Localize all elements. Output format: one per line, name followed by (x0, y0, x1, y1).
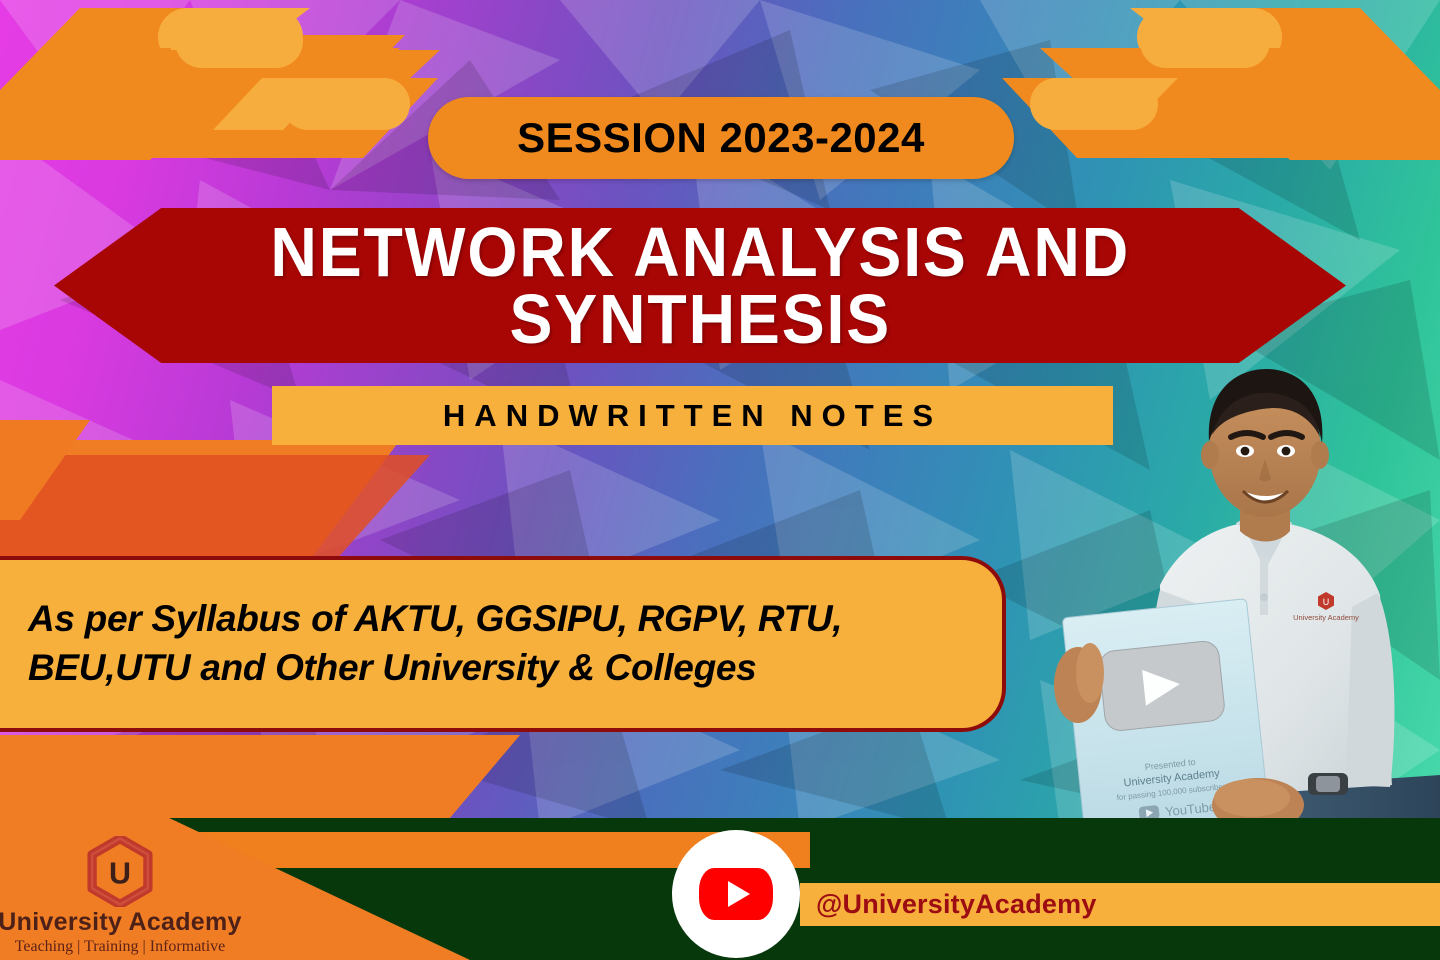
brand-tagline: Teaching | Training | Informative (15, 938, 226, 956)
brand-logo: U University Academy Teaching | Training… (10, 836, 230, 956)
poster-canvas: SESSION 2023-2024 NETWORK ANALYSIS AND S… (0, 0, 1440, 960)
presenter-photo: U University Academy Presented to Univer… (1040, 355, 1440, 860)
channel-handle-label: @UniversityAcademy (816, 889, 1097, 920)
play-triangle-icon (728, 881, 750, 907)
syllabus-line-2: BEU,UTU and Other University & Colleges (28, 644, 1002, 693)
brand-monogram: U (109, 856, 131, 890)
syllabus-callout: As per Syllabus of AKTU, GGSIPU, RGPV, R… (0, 556, 1006, 732)
youtube-play-icon (699, 868, 773, 920)
session-badge-label: SESSION 2023-2024 (517, 114, 925, 162)
title-banner: NETWORK ANALYSIS AND SYNTHESIS (54, 208, 1346, 363)
title-line-2: SYNTHESIS (270, 286, 1130, 353)
channel-handle-strip: @UniversityAcademy (800, 883, 1440, 926)
handwritten-notes-badge: HANDWRITTEN NOTES (272, 386, 1113, 445)
syllabus-line-1: As per Syllabus of AKTU, GGSIPU, RGPV, R… (28, 595, 1002, 644)
handwritten-notes-label: HANDWRITTEN NOTES (443, 398, 942, 434)
session-badge: SESSION 2023-2024 (428, 97, 1014, 179)
brand-name: University Academy (0, 908, 242, 937)
youtube-badge[interactable] (672, 830, 800, 958)
page-title: NETWORK ANALYSIS AND SYNTHESIS (270, 219, 1130, 352)
svg-text:University Academy: University Academy (1293, 613, 1359, 622)
hexagon-logo-icon: U (81, 836, 159, 907)
svg-text:U: U (1323, 597, 1330, 607)
